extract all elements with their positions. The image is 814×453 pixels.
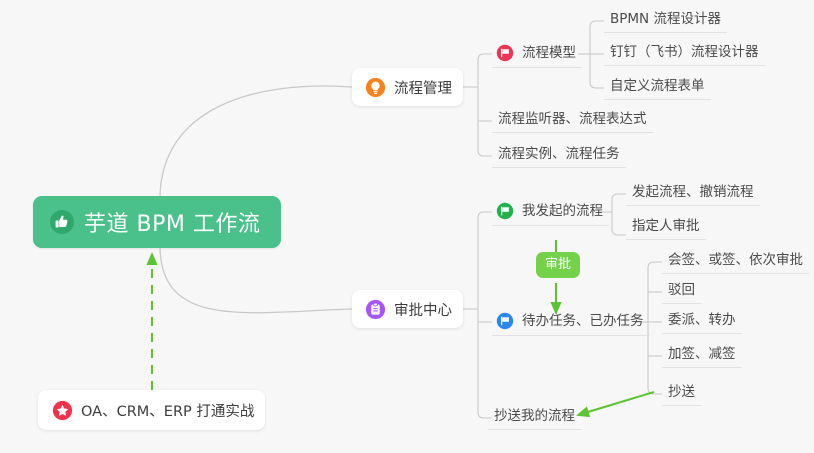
root-label: 芋道 BPM 工作流 xyxy=(84,206,260,238)
root-node[interactable]: 芋道 BPM 工作流 xyxy=(33,196,281,248)
leaf-label: 流程实例、流程任务 xyxy=(498,146,620,162)
branch-node-process-management[interactable]: 流程管理 xyxy=(352,68,463,106)
leaf-assignee-approval[interactable]: 指定人审批 xyxy=(626,218,706,240)
flag-green-icon xyxy=(496,202,514,220)
leaf-label: BPMN 流程设计器 xyxy=(610,11,721,27)
leaf-custom-process-form[interactable]: 自定义流程表单 xyxy=(604,78,711,100)
leaf-bpmn-designer[interactable]: BPMN 流程设计器 xyxy=(604,11,727,33)
leaf-countersign[interactable]: 会签、或签、依次审批 xyxy=(662,252,809,274)
clipboard-icon xyxy=(365,299,386,320)
note-node-integration[interactable]: OA、CRM、ERP 打通实战 xyxy=(38,390,265,430)
flag-blue-icon xyxy=(496,312,514,330)
leaf-label: 会签、或签、依次审批 xyxy=(668,252,803,268)
lightbulb-icon xyxy=(365,77,386,98)
annotation-badge-label: 审批 xyxy=(545,257,571,272)
thumbs-up-icon xyxy=(49,209,75,235)
leaf-label: 待办任务、已办任务 xyxy=(522,313,644,329)
leaf-label: 驳回 xyxy=(668,282,695,298)
leaf-label: 抄送 xyxy=(668,384,695,400)
leaf-cc[interactable]: 抄送 xyxy=(662,384,701,406)
leaf-instance-task[interactable]: 流程实例、流程任务 xyxy=(492,146,626,168)
leaf-label: 委派、转办 xyxy=(668,312,736,328)
leaf-label: 加签、减签 xyxy=(668,346,736,362)
leaf-start-cancel[interactable]: 发起流程、撤销流程 xyxy=(626,184,760,206)
leaf-label: 发起流程、撤销流程 xyxy=(632,184,754,200)
note-label: OA、CRM、ERP 打通实战 xyxy=(81,400,254,421)
mindmap-canvas: 芋道 BPM 工作流 流程管理 审批中心 xyxy=(0,0,814,453)
leaf-dingtalk-feishu-designer[interactable]: 钉钉（飞书）流程设计器 xyxy=(604,44,765,66)
branch-label: 审批中心 xyxy=(394,299,452,320)
leaf-reject[interactable]: 驳回 xyxy=(662,282,701,304)
branch-label: 流程管理 xyxy=(394,77,452,98)
annotation-badge-approval: 审批 xyxy=(536,252,580,278)
flag-red-icon xyxy=(496,44,514,62)
leaf-add-remove-sign[interactable]: 加签、减签 xyxy=(662,346,742,368)
leaf-todo-done[interactable]: 待办任务、已办任务 xyxy=(492,312,650,336)
leaf-label: 流程模型 xyxy=(522,45,576,61)
leaf-label: 我发起的流程 xyxy=(522,203,603,219)
leaf-label: 钉钉（飞书）流程设计器 xyxy=(610,44,759,60)
leaf-label: 流程监听器、流程表达式 xyxy=(498,111,647,127)
leaf-label: 自定义流程表单 xyxy=(610,78,705,94)
leaf-label: 指定人审批 xyxy=(632,218,700,234)
leaf-listener-expression[interactable]: 流程监听器、流程表达式 xyxy=(492,111,653,133)
star-icon xyxy=(52,400,73,421)
leaf-label: 抄送我的流程 xyxy=(494,408,575,424)
leaf-delegate-transfer[interactable]: 委派、转办 xyxy=(662,312,742,334)
leaf-process-model[interactable]: 流程模型 xyxy=(492,44,582,68)
branch-node-approval-center[interactable]: 审批中心 xyxy=(352,290,463,328)
leaf-cc-to-me[interactable]: 抄送我的流程 xyxy=(488,408,581,430)
leaf-my-initiated[interactable]: 我发起的流程 xyxy=(492,202,609,226)
